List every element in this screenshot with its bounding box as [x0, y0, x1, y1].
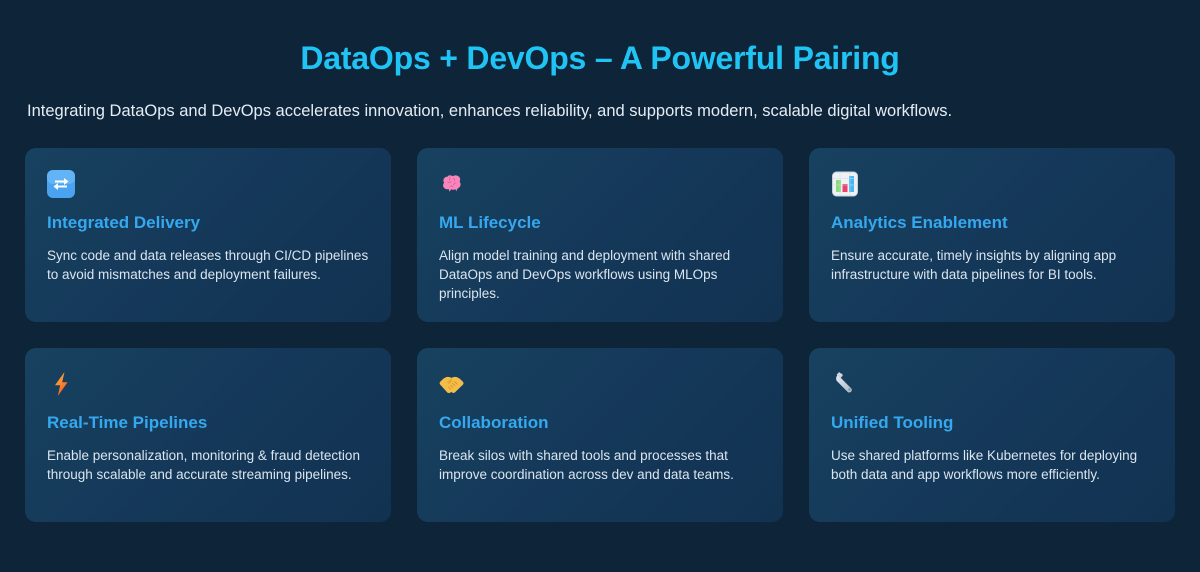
repeat-icon: [47, 170, 369, 200]
wrench-icon: [831, 370, 1153, 400]
card-title: Unified Tooling: [831, 413, 1153, 433]
header: DataOps + DevOps – A Powerful Pairing In…: [25, 0, 1175, 122]
card-description: Ensure accurate, timely insights by alig…: [831, 246, 1153, 284]
feature-card-analytics-enablement[interactable]: Analytics Enablement Ensure accurate, ti…: [809, 148, 1175, 322]
card-title: Analytics Enablement: [831, 213, 1153, 233]
card-title: Integrated Delivery: [47, 213, 369, 233]
card-description: Align model training and deployment with…: [439, 246, 761, 303]
feature-card-collaboration[interactable]: Collaboration Break silos with shared to…: [417, 348, 783, 522]
card-description: Enable personalization, monitoring & fra…: [47, 446, 369, 484]
card-title: Collaboration: [439, 413, 761, 433]
card-description: Sync code and data releases through CI/C…: [47, 246, 369, 284]
card-title: ML Lifecycle: [439, 213, 761, 233]
lightning-bolt-icon: [47, 370, 369, 400]
feature-card-integrated-delivery[interactable]: Integrated Delivery Sync code and data r…: [25, 148, 391, 322]
brain-icon: [439, 170, 761, 200]
feature-card-unified-tooling[interactable]: Unified Tooling Use shared platforms lik…: [809, 348, 1175, 522]
feature-card-grid: Integrated Delivery Sync code and data r…: [25, 148, 1175, 522]
page-subtitle: Integrating DataOps and DevOps accelerat…: [25, 101, 1175, 122]
slide-container: DataOps + DevOps – A Powerful Pairing In…: [0, 0, 1200, 572]
page-title: DataOps + DevOps – A Powerful Pairing: [25, 40, 1175, 77]
card-description: Use shared platforms like Kubernetes for…: [831, 446, 1153, 484]
card-title: Real-Time Pipelines: [47, 413, 369, 433]
handshake-icon: [439, 370, 761, 400]
feature-card-real-time-pipelines[interactable]: Real-Time Pipelines Enable personalizati…: [25, 348, 391, 522]
feature-card-ml-lifecycle[interactable]: ML Lifecycle Align model training and de…: [417, 148, 783, 322]
card-description: Break silos with shared tools and proces…: [439, 446, 761, 484]
bar-chart-icon: [831, 170, 1153, 200]
